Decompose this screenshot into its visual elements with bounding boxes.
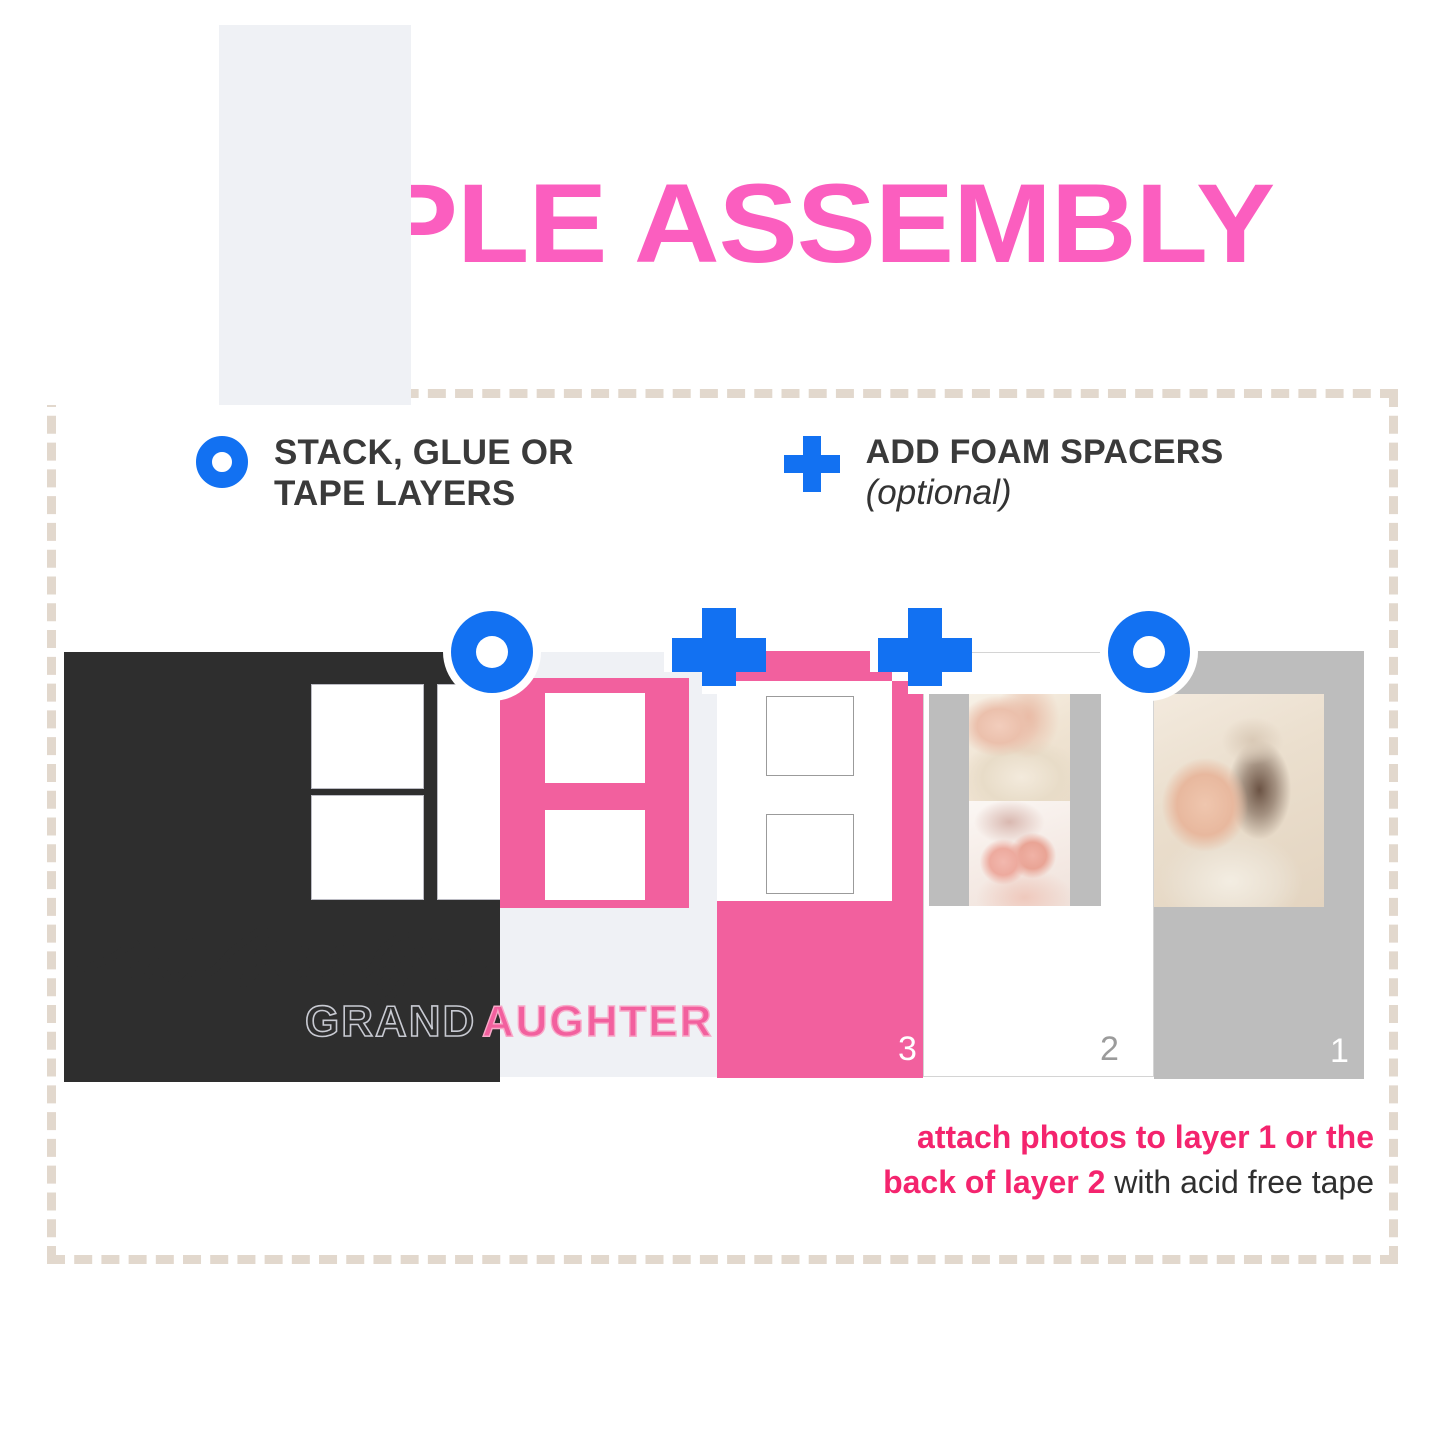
layer-3-photo-slot-top — [766, 696, 854, 776]
layer-stack-diagram: 1 2 3 GRAND AUGHTER — [0, 0, 1445, 1445]
layer-3-photo-slot-bottom — [766, 814, 854, 894]
sleeping-baby-photo — [1154, 694, 1324, 907]
granddaughter-outline-text: GRAND — [305, 997, 476, 1047]
layer-5-photo-slot-side — [437, 684, 500, 900]
baby-feet-photo — [969, 801, 1070, 906]
layer-5-gray-card — [219, 25, 411, 405]
layer-1-number: 1 — [1330, 1032, 1349, 1071]
badge-ring-2 — [1108, 611, 1190, 693]
baby-hands-photo — [969, 694, 1070, 801]
layer-3-number: 3 — [898, 1030, 917, 1069]
layer-4-cutout-top — [545, 693, 645, 783]
caption-line2-rest: with acid free tape — [1105, 1164, 1374, 1200]
layer-2-number: 2 — [1100, 1030, 1119, 1069]
badge-ring-1 — [451, 611, 533, 693]
layer-5-photo-slot-top — [311, 684, 424, 789]
badge-plus-1 — [672, 608, 766, 702]
layer-4-cutout-bottom — [545, 810, 645, 900]
caption-line2-bold: back of layer 2 — [883, 1164, 1105, 1200]
assembly-caption: attach photos to layer 1 or the back of … — [0, 1115, 1398, 1206]
granddaughter-pink-text: AUGHTER — [482, 997, 714, 1047]
layer-5-photo-slot-bottom — [311, 795, 424, 900]
caption-line1: attach photos to layer 1 or the — [917, 1119, 1374, 1155]
badge-plus-2 — [878, 608, 972, 702]
